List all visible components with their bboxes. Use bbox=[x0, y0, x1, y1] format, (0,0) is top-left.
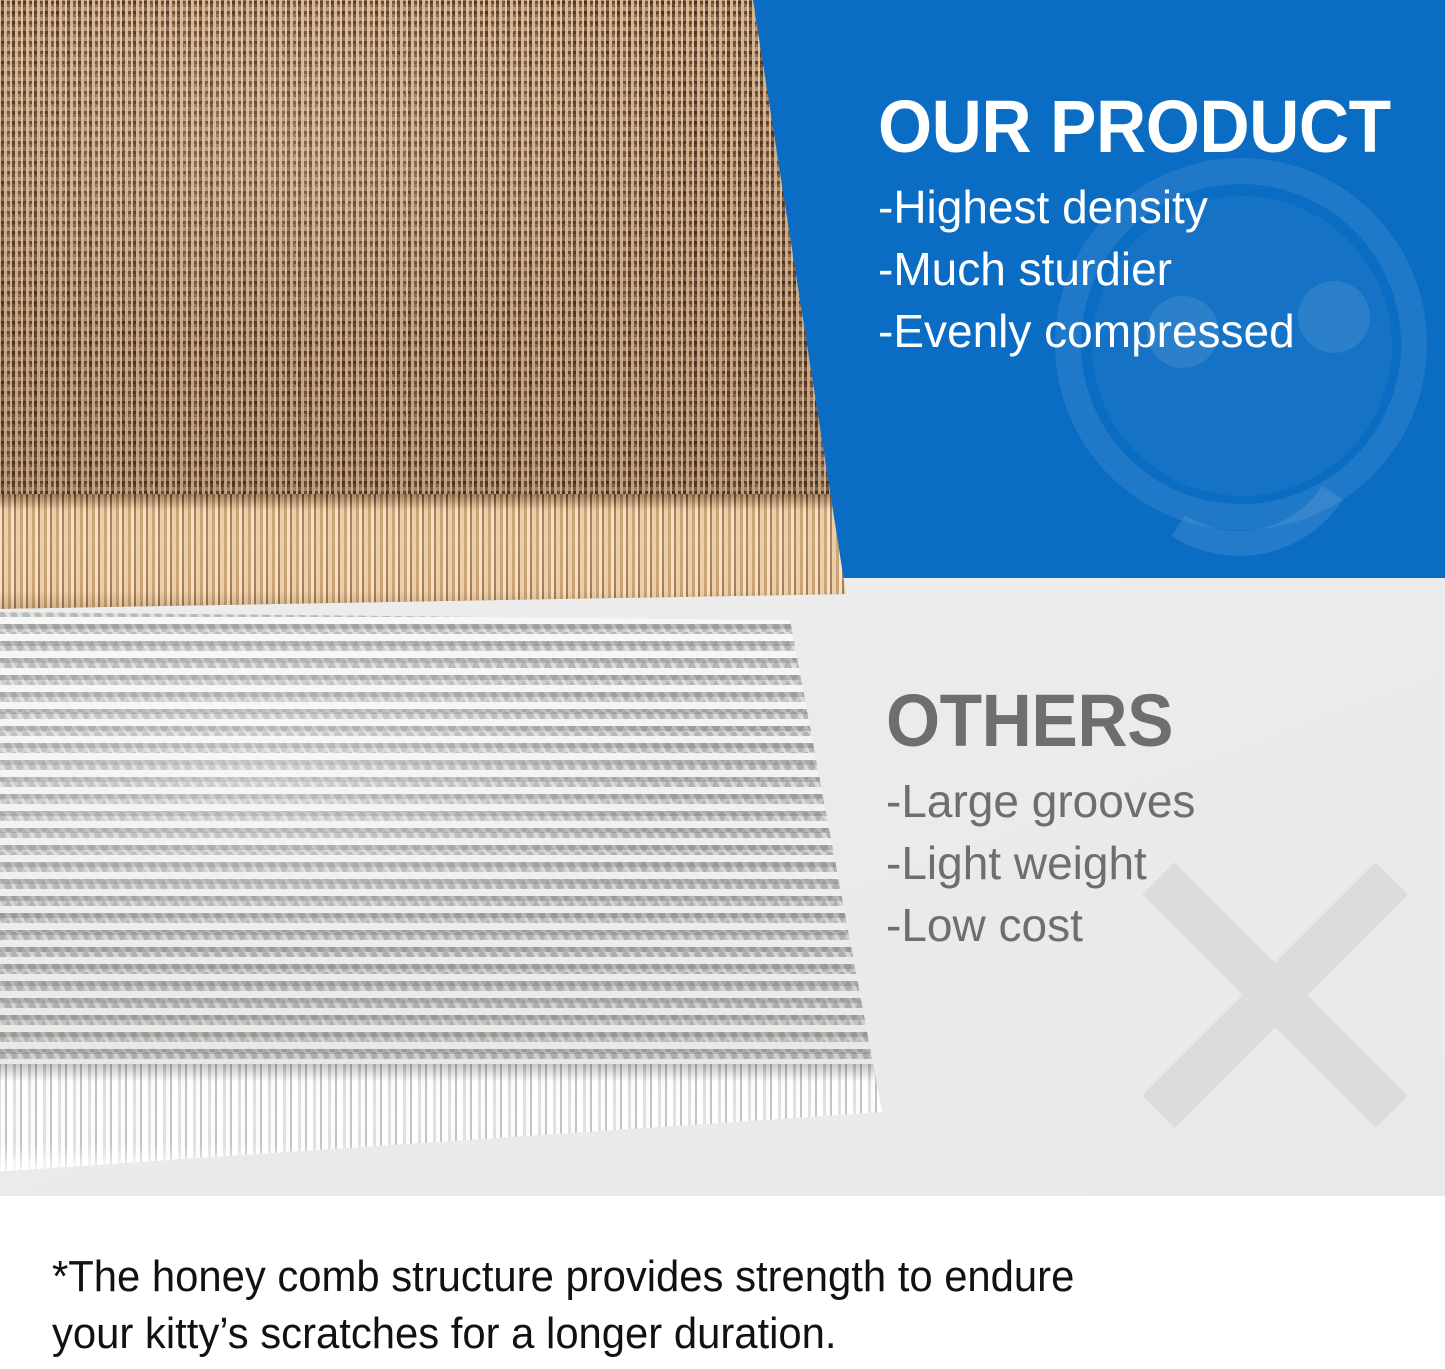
footnote-line-1: *The honey comb structure provides stren… bbox=[52, 1248, 1344, 1305]
our-product-bullet-1: -Highest density bbox=[878, 176, 1438, 238]
others-text-block: OTHERS -Large grooves -Light weight -Low… bbox=[886, 686, 1445, 957]
footnote-text: *The honey comb structure provides stren… bbox=[52, 1248, 1344, 1362]
our-product-text-block: OUR PRODUCT -Highest density -Much sturd… bbox=[878, 92, 1438, 363]
our-product-heading: OUR PRODUCT bbox=[878, 92, 1404, 162]
brown-slab-side-edge bbox=[0, 494, 855, 609]
others-bullet-list: -Large grooves -Light weight -Low cost bbox=[886, 770, 1445, 956]
our-product-bullet-3: -Evenly compressed bbox=[878, 300, 1438, 362]
footnote-line-2: your kitty’s scratches for a longer dura… bbox=[52, 1305, 1344, 1362]
others-bullet-3: -Low cost bbox=[886, 894, 1445, 956]
white-honeycomb-cardboard-slab bbox=[0, 612, 890, 1172]
others-bullet-1: -Large grooves bbox=[886, 770, 1445, 832]
our-product-bullet-list: -Highest density -Much sturdier -Evenly … bbox=[878, 176, 1438, 362]
brown-honeycomb-cardboard-slab bbox=[0, 0, 855, 609]
others-bullet-2: -Light weight bbox=[886, 832, 1445, 894]
brown-slab-top-face bbox=[0, 0, 855, 514]
product-comparison-infographic: OUR PRODUCT -Highest density -Much sturd… bbox=[0, 0, 1445, 1369]
others-heading: OTHERS bbox=[886, 686, 1412, 756]
our-product-bullet-2: -Much sturdier bbox=[878, 238, 1438, 300]
white-slab-top-face bbox=[0, 612, 890, 1082]
